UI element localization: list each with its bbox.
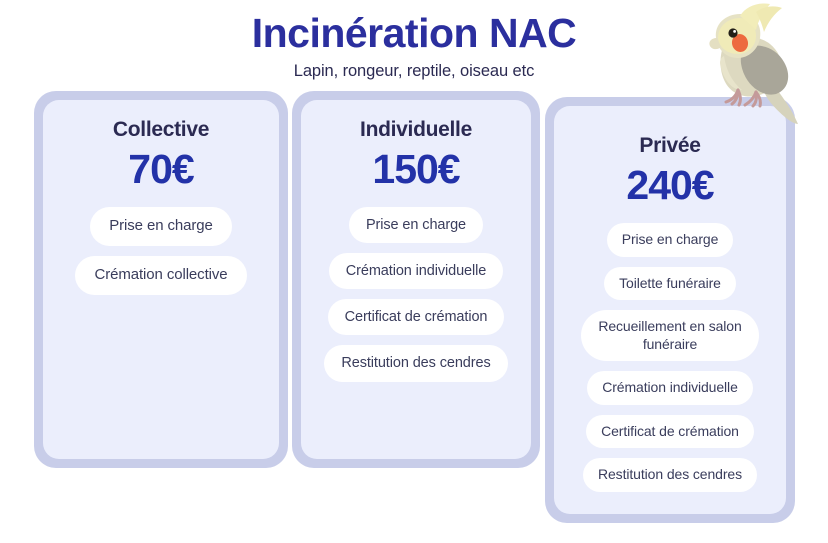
feature-item: Certificat de crémation: [586, 415, 754, 449]
plan-name: Collective: [113, 118, 209, 142]
feature-item: Restitution des cendres: [324, 345, 507, 381]
plan-price: 240€: [626, 162, 713, 209]
pricing-page: Incinération NAC Lapin, rongeur, reptile…: [0, 0, 828, 543]
feature-item: Certificat de crémation: [328, 299, 505, 335]
page-title: Incinération NAC: [0, 10, 828, 57]
feature-item: Prise en charge: [607, 223, 734, 257]
pricing-card-inner: Collective 70€ Prise en charge Crémation…: [43, 100, 279, 459]
feature-list: Prise en charge Toilette funéraire Recue…: [568, 223, 772, 492]
pricing-card-inner: Privée 240€ Prise en charge Toilette fun…: [554, 106, 786, 514]
feature-item: Prise en charge: [349, 207, 483, 243]
feature-item: Crémation individuelle: [329, 253, 503, 289]
page-header: Incinération NAC Lapin, rongeur, reptile…: [0, 10, 828, 81]
feature-item: Toilette funéraire: [604, 267, 736, 301]
feature-list: Prise en charge Crémation individuelle C…: [315, 207, 517, 382]
pricing-card-individuelle[interactable]: Individuelle 150€ Prise en charge Crémat…: [292, 91, 540, 468]
feature-item: Restitution des cendres: [583, 458, 757, 492]
feature-list: Prise en charge Crémation collective: [57, 207, 265, 295]
guinea-pig-illustration: [83, 455, 213, 459]
plan-price: 70€: [128, 146, 193, 193]
plan-name: Individuelle: [360, 118, 472, 142]
pricing-card-privee[interactable]: Privée 240€ Prise en charge Toilette fun…: [545, 97, 795, 523]
feature-item: Prise en charge: [90, 207, 232, 246]
feature-item: Crémation collective: [75, 256, 246, 295]
plan-price: 150€: [372, 146, 459, 193]
feature-item: Crémation individuelle: [587, 371, 753, 405]
plan-name: Privée: [639, 134, 700, 158]
pricing-card-inner: Individuelle 150€ Prise en charge Crémat…: [301, 100, 531, 459]
feature-item: Recueillement en salon funéraire: [581, 310, 759, 361]
pricing-card-collective[interactable]: Collective 70€ Prise en charge Crémation…: [34, 91, 288, 468]
page-subtitle: Lapin, rongeur, reptile, oiseau etc: [0, 62, 828, 81]
